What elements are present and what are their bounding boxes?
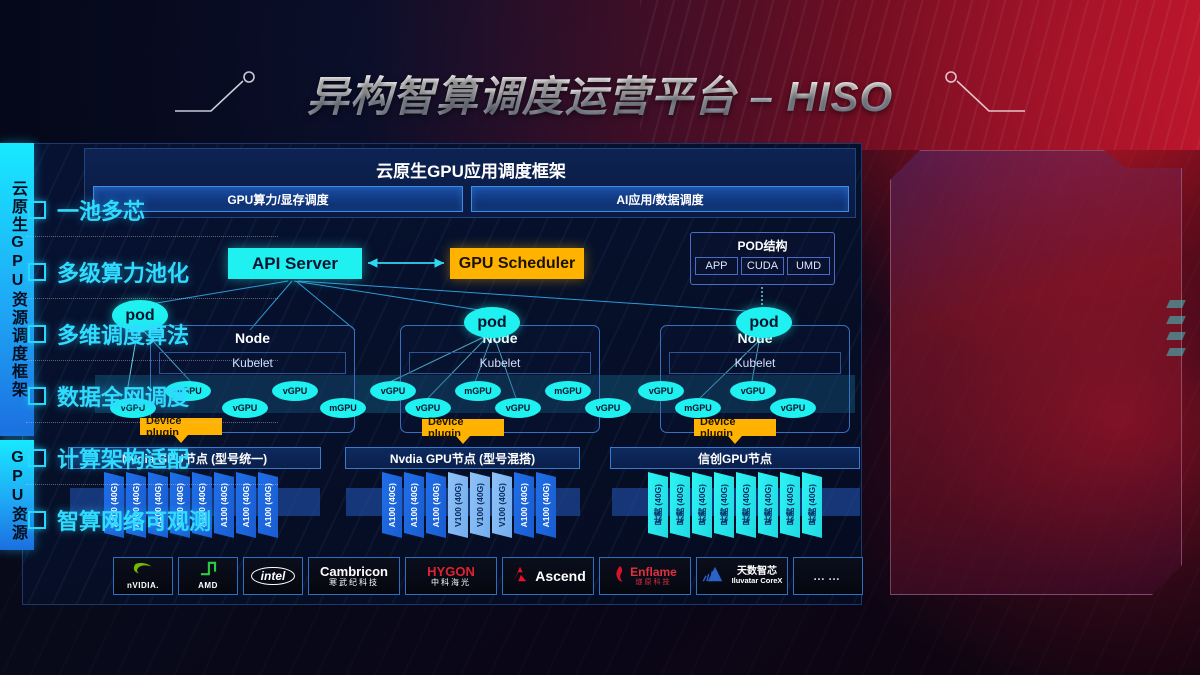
kubelet-3: Kubelet xyxy=(669,352,841,374)
feature-label: 多级算力池化 xyxy=(57,256,189,288)
checkbox-square-icon xyxy=(28,201,46,219)
enflame-logo[interactable]: Enflame燧原科技 xyxy=(599,557,691,595)
gpu-card-label: 昇腾 (40G) xyxy=(806,484,818,525)
feature-label: 多维调度算法 xyxy=(57,318,189,350)
feature-item-1[interactable]: 一池多芯 xyxy=(28,190,278,230)
more-label: …… xyxy=(813,570,843,583)
gpu-instance-12[interactable]: vGPU xyxy=(638,381,684,401)
gpu-card-label: 昇腾 (40G) xyxy=(674,484,686,525)
gpu-card-label: V100 (40G) xyxy=(453,483,463,527)
title-left-decoration xyxy=(173,71,293,115)
feature-item-2[interactable]: 多级算力池化 xyxy=(28,252,278,292)
intel-wordmark: intel xyxy=(251,567,296,586)
checkbox-square-icon xyxy=(28,511,46,529)
gpu-card-label: A100 (40G) xyxy=(541,483,551,527)
gpu-card-label: V100 (40G) xyxy=(497,483,507,527)
hygon-logo[interactable]: HYGON中科海光 xyxy=(405,557,497,595)
feature-item-3[interactable]: 多维调度算法 xyxy=(28,314,278,354)
gpu-instance-14[interactable]: vGPU xyxy=(730,381,776,401)
pod-structure-title: POD结构 xyxy=(691,237,834,254)
feature-item-4[interactable]: 数据全网调度 xyxy=(28,376,278,416)
gpu-group-bar-3[interactable]: 信创GPU节点 xyxy=(610,447,860,469)
amd-logo[interactable]: AMD xyxy=(178,557,238,595)
gpu-instance-9[interactable]: vGPU xyxy=(495,398,541,418)
gpu-card-3-6[interactable]: 昇腾 (40G) xyxy=(758,472,778,538)
gpu-card-2-6[interactable]: V100 (40G) xyxy=(492,472,512,538)
gpu-card-3-7[interactable]: 昇腾 (40G) xyxy=(780,472,800,538)
gpu-card-2-1[interactable]: A100 (40G) xyxy=(382,472,402,538)
gpu-card-3-4[interactable]: 昇腾 (40G) xyxy=(714,472,734,538)
kubelet-1: Kubelet xyxy=(159,352,346,374)
title-right-decoration xyxy=(907,71,1027,115)
gpu-card-label: A100 (40G) xyxy=(409,483,419,527)
gpu-instance-10[interactable]: mGPU xyxy=(545,381,591,401)
gpu-card-2-3[interactable]: A100 (40G) xyxy=(426,472,446,538)
gpu-card-2-4[interactable]: V100 (40G) xyxy=(448,472,468,538)
gpu-scheduler-box[interactable]: GPU Scheduler xyxy=(450,248,584,279)
checkbox-square-icon xyxy=(28,263,46,281)
kubelet-2: Kubelet xyxy=(409,352,591,374)
iluvatar-mark xyxy=(702,565,728,588)
enflame-wordmark: Enflame xyxy=(630,566,677,579)
feature-label: 一池多芯 xyxy=(57,194,145,226)
gpu-card-3-8[interactable]: 昇腾 (40G) xyxy=(802,472,822,538)
gpu-card-2-2[interactable]: A100 (40G) xyxy=(404,472,424,538)
device-plugin-1[interactable]: Device plugin xyxy=(140,418,222,435)
device-plugin-arrow-3 xyxy=(728,436,742,444)
gpu-card-3-5[interactable]: 昇腾 (40G) xyxy=(736,472,756,538)
enflame-mark xyxy=(613,565,627,588)
ascend-wordmark: Ascend xyxy=(535,569,586,584)
features-panel xyxy=(890,150,1182,595)
pod-layer-app: APP xyxy=(695,257,738,275)
gpu-card-3-2[interactable]: 昇腾 (40G) xyxy=(670,472,690,538)
gpu-card-label: A100 (40G) xyxy=(387,483,397,527)
title-bar: 异构智算调度运营平台 – HISO xyxy=(0,62,1200,124)
feature-item-5[interactable]: 计算架构适配 xyxy=(28,438,278,478)
feature-label: 数据全网调度 xyxy=(57,380,189,412)
nvidia-wordmark: nVIDIA. xyxy=(127,582,159,590)
gpu-card-label: 昇腾 (40G) xyxy=(718,484,730,525)
nvidia-logo[interactable]: nVIDIA. xyxy=(113,557,173,595)
cambricon-logo[interactable]: Cambricon寒武纪科技 xyxy=(308,557,400,595)
nvidia-mark xyxy=(132,561,154,581)
framework-box-ai[interactable]: AI应用/数据调度 xyxy=(471,186,849,212)
framework-title: 云原生GPU应用调度框架 xyxy=(85,157,857,182)
gpu-card-set-2: A100 (40G)A100 (40G)A100 (40G)V100 (40G)… xyxy=(382,472,557,538)
pod-2[interactable]: pod xyxy=(464,307,520,338)
pod-3[interactable]: pod xyxy=(736,307,792,338)
feature-separator xyxy=(26,422,278,423)
checkbox-square-icon xyxy=(28,449,46,467)
gpu-card-label: 昇腾 (40G) xyxy=(696,484,708,525)
gpu-card-3-3[interactable]: 昇腾 (40G) xyxy=(692,472,712,538)
pod-layer-cuda: CUDA xyxy=(741,257,784,275)
intel-logo[interactable]: intel xyxy=(243,557,303,595)
ascend-mark xyxy=(510,565,530,588)
feature-label: 智算网络可观测 xyxy=(57,504,211,536)
checkbox-square-icon xyxy=(28,387,46,405)
gpu-card-label: 昇腾 (40G) xyxy=(740,484,752,525)
gpu-instance-5[interactable]: mGPU xyxy=(320,398,366,418)
gpu-card-2-5[interactable]: V100 (40G) xyxy=(470,472,490,538)
gpu-card-3-1[interactable]: 昇腾 (40G) xyxy=(648,472,668,538)
ascend-logo[interactable]: Ascend xyxy=(502,557,594,595)
hygon-wordmark: HYGON xyxy=(427,565,475,579)
amd-wordmark: AMD xyxy=(198,582,218,590)
gpu-card-label: 昇腾 (40G) xyxy=(652,484,664,525)
gpu-card-2-7[interactable]: A100 (40G) xyxy=(514,472,534,538)
feature-separator xyxy=(26,236,278,237)
gpu-instance-15[interactable]: vGPU xyxy=(770,398,816,418)
gpu-card-label: A100 (40G) xyxy=(431,483,441,527)
gpu-instance-8[interactable]: mGPU xyxy=(455,381,501,401)
gpu-group-bar-2[interactable]: Nvdia GPU节点 (型号混搭) xyxy=(345,447,580,469)
feature-separator xyxy=(26,298,278,299)
pod-layer-umd: UMD xyxy=(787,257,830,275)
pod-structure-layers: APP CUDA UMD xyxy=(691,257,834,275)
gpu-card-label: V100 (40G) xyxy=(475,483,485,527)
amd-mark xyxy=(199,561,217,581)
checkbox-square-icon xyxy=(28,325,46,343)
feature-item-6[interactable]: 智算网络可观测 xyxy=(28,500,278,540)
gpu-card-label: 昇腾 (40G) xyxy=(784,484,796,525)
feature-label: 计算架构适配 xyxy=(57,442,189,474)
device-plugin-arrow-2 xyxy=(456,436,470,444)
device-plugin-2[interactable]: Device plugin xyxy=(422,419,504,436)
feature-separator xyxy=(26,360,278,361)
gpu-card-label: 昇腾 (40G) xyxy=(762,484,774,525)
iluvatar-logo[interactable]: 天数智芯Iluvatar CoreX xyxy=(696,557,788,595)
pod-structure-box: POD结构 APP CUDA UMD xyxy=(690,232,835,285)
enflame-subtext: 燧原科技 xyxy=(630,579,677,586)
hygon-subtext: 中科海光 xyxy=(431,579,471,587)
gpu-card-label: A100 (40G) xyxy=(519,483,529,527)
more-logo[interactable]: …… xyxy=(793,557,863,595)
gpu-card-set-3: 昇腾 (40G)昇腾 (40G)昇腾 (40G)昇腾 (40G)昇腾 (40G)… xyxy=(648,472,823,538)
gpu-instance-4[interactable]: vGPU xyxy=(272,381,318,401)
iluvatar-subtext: Iluvatar CoreX xyxy=(732,577,783,585)
gpu-instance-6[interactable]: vGPU xyxy=(370,381,416,401)
page-title: 异构智算调度运营平台 – HISO xyxy=(307,63,893,124)
gpu-instance-11[interactable]: vGPU xyxy=(585,398,631,418)
device-plugin-3[interactable]: Device plugin xyxy=(694,419,776,436)
feature-separator xyxy=(26,484,278,485)
cambricon-subtext: 寒武纪科技 xyxy=(329,579,379,587)
cambricon-wordmark: Cambricon xyxy=(320,565,388,579)
gpu-card-2-8[interactable]: A100 (40G) xyxy=(536,472,556,538)
